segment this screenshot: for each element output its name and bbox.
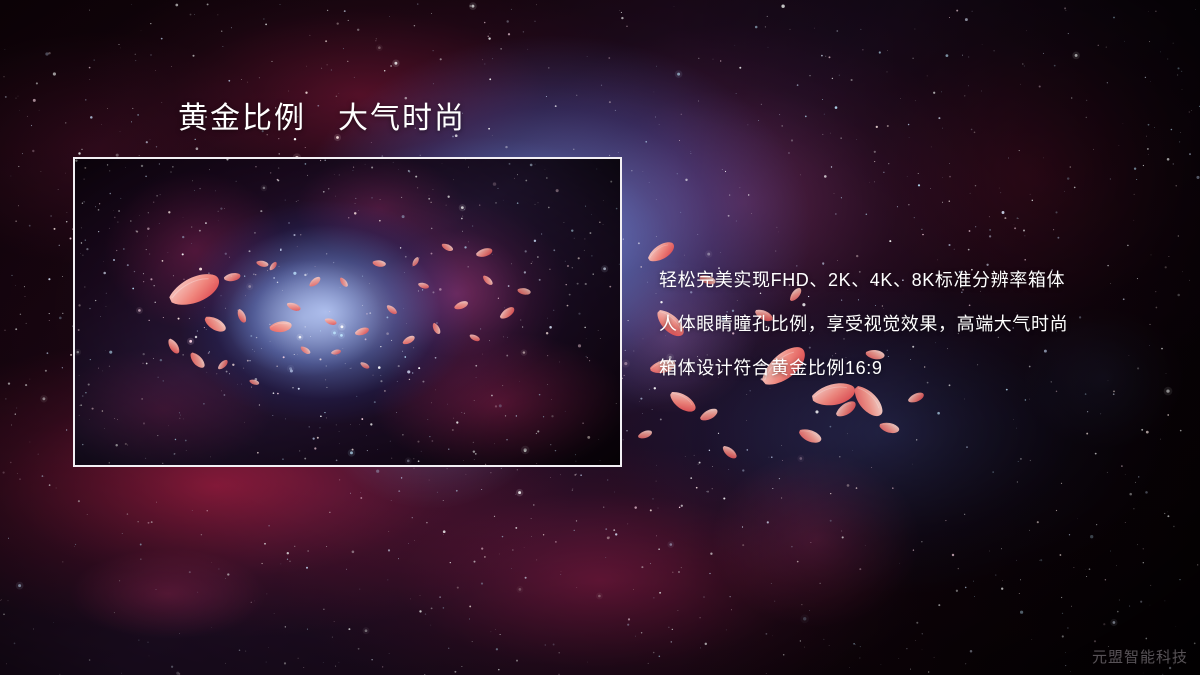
body-text-block: 轻松完美实现FHD、2K、4K、8K标准分辨率箱体 人体眼睛瞳孔比例，享受视觉效…: [659, 258, 1179, 390]
body-line-1: 轻松完美实现FHD、2K、4K、8K标准分辨率箱体: [659, 258, 1179, 302]
framed-image-vignette: [75, 159, 620, 465]
watermark-label: 元盟智能科技: [1092, 646, 1188, 667]
presentation-slide: 黄金比例 大气时尚 轻松完美实现FHD、2K、4K、8K标准分辨率箱体 人体眼睛…: [0, 0, 1200, 675]
framed-image-panel[interactable]: [73, 157, 622, 467]
body-line-2: 人体眼睛瞳孔比例，享受视觉效果，高端大气时尚: [659, 302, 1179, 346]
body-line-3: 箱体设计符合黄金比例16:9: [659, 346, 1179, 390]
slide-title: 黄金比例 大气时尚: [178, 100, 466, 138]
